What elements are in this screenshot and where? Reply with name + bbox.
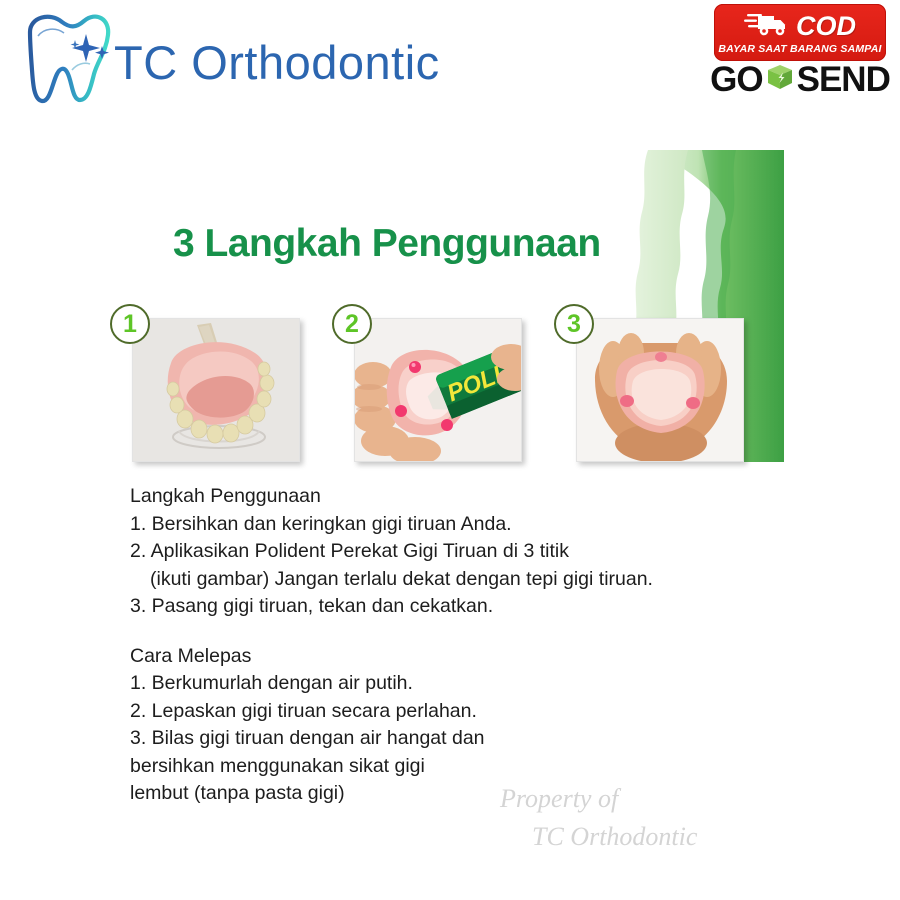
denture-cleaning-photo xyxy=(132,318,300,462)
brand-logo-lockup: TC Orthodontic xyxy=(14,8,440,113)
watermark: Property of TC Orthodontic xyxy=(500,780,697,856)
section1-line-4: 3. Pasang gigi tiruan, tekan dan cekatka… xyxy=(130,593,770,621)
section2-heading: Cara Melepas xyxy=(130,643,770,671)
steps-row: 1 xyxy=(110,290,790,462)
cod-top-row: COD xyxy=(714,4,886,45)
instruction-card: 3 Langkah Penggunaan xyxy=(18,150,784,884)
step-2: POLI 2 xyxy=(332,304,520,460)
section2-line-2: 2. Lepaskan gigi tiruan secara perlahan. xyxy=(130,698,770,726)
section1-line-2: 2. Aplikasikan Polident Perekat Gigi Tir… xyxy=(130,538,770,566)
instructions-block: Langkah Penggunaan 1. Bersihkan dan keri… xyxy=(130,483,770,808)
watermark-line-2: TC Orthodontic xyxy=(500,818,697,856)
section2-line-4: bersihkan menggunakan sikat gigi xyxy=(130,753,770,781)
step-1: 1 xyxy=(110,304,298,460)
denture-holding-photo xyxy=(576,318,744,462)
tooth-sparkle-icon xyxy=(14,8,118,113)
delivery-truck-icon xyxy=(744,10,790,43)
step-badge-2: 2 xyxy=(332,304,372,344)
cod-title: COD xyxy=(796,13,856,40)
step-badge-3: 3 xyxy=(554,304,594,344)
section-divider-space xyxy=(130,621,770,643)
step-badge-1: 1 xyxy=(110,304,150,344)
section2-line-1: 1. Berkumurlah dengan air putih. xyxy=(130,670,770,698)
section1-line-1: 1. Bersihkan dan keringkan gigi tiruan A… xyxy=(130,511,770,539)
page-header: TC Orthodontic xyxy=(0,0,900,130)
section1-line-3: (ikuti gambar) Jangan terlalu dekat deng… xyxy=(130,566,770,594)
section1-heading: Langkah Penggunaan xyxy=(130,483,770,511)
brand-name: TC Orthodontic xyxy=(114,35,440,90)
gosend-word-go: GO xyxy=(710,62,762,97)
section2-line-3: 3. Bilas gigi tiruan dengan air hangat d… xyxy=(130,725,770,753)
cod-subtitle: BAYAR SAAT BARANG SAMPAI xyxy=(714,43,886,55)
watermark-line-1: Property of xyxy=(500,780,697,818)
green-package-box-icon xyxy=(765,62,795,97)
cod-plate: COD BAYAR SAAT BARANG SAMPAI xyxy=(714,4,886,61)
card-title: 3 Langkah Penggunaan xyxy=(173,222,601,266)
gosend-logo: GO SEND xyxy=(714,62,886,97)
cod-gosend-badge: COD BAYAR SAAT BARANG SAMPAI GO SEND xyxy=(714,4,886,97)
polident-applying-photo: POLI xyxy=(354,318,522,462)
step-3: 3 xyxy=(554,304,742,460)
gosend-word-send: SEND xyxy=(797,62,890,97)
